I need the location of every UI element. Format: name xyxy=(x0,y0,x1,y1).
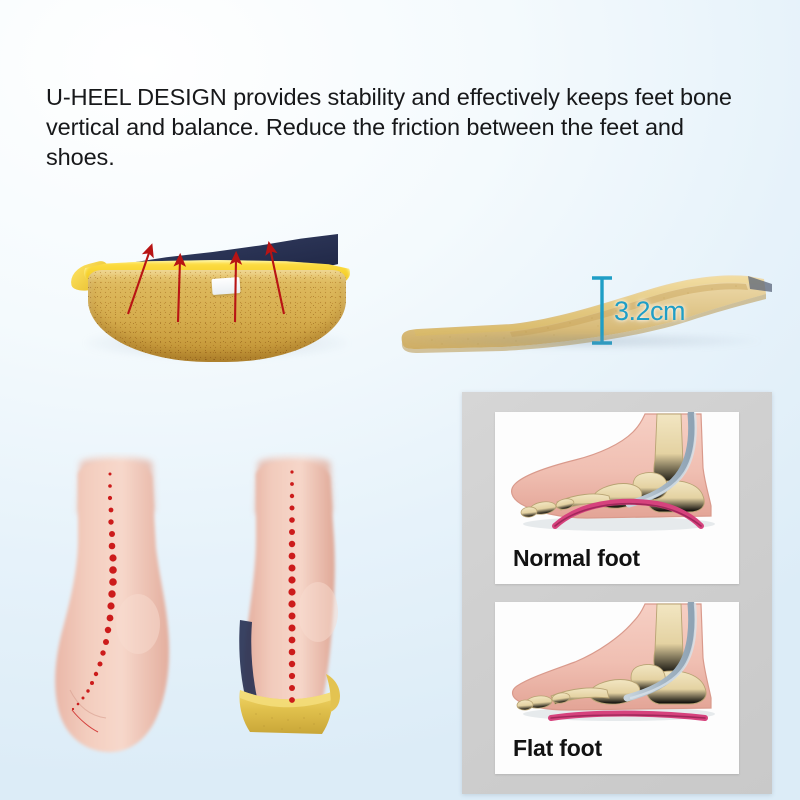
heel-without-insole xyxy=(55,457,169,752)
support-arrow-3 xyxy=(235,258,236,322)
support-arrow-4 xyxy=(270,248,284,314)
normal-foot-card: Normal foot xyxy=(495,412,739,584)
infographic-canvas: U-HEEL DESIGN provides stability and eff… xyxy=(0,0,800,800)
right-ankle-highlight xyxy=(298,582,338,642)
flat-foot-label: Flat foot xyxy=(513,735,602,762)
flat-foot-illustration xyxy=(495,602,739,730)
support-arrows-group xyxy=(62,222,362,382)
support-arrow-2 xyxy=(178,260,180,322)
left-ankle-highlight xyxy=(116,594,160,654)
normal-foot-label: Normal foot xyxy=(513,545,640,572)
heel-alignment-drawing xyxy=(34,452,444,800)
foot-type-comparison-panel: Normal foot xyxy=(462,392,772,794)
normal-foot-ground-shadow xyxy=(523,517,715,531)
support-arrow-1 xyxy=(128,250,150,314)
u-heel-cup-photo xyxy=(62,222,362,382)
heel-alignment-comparison xyxy=(34,452,444,800)
normal-foot-illustration xyxy=(495,412,739,540)
page-headline: U-HEEL DESIGN provides stability and eff… xyxy=(46,82,762,172)
insole-profile-shadow xyxy=(402,332,762,350)
heel-with-insole xyxy=(239,457,340,734)
flat-foot-card: Flat foot xyxy=(495,602,739,774)
insole-side-profile-photo xyxy=(392,258,784,366)
height-dimension-label: 3.2cm xyxy=(614,296,685,327)
